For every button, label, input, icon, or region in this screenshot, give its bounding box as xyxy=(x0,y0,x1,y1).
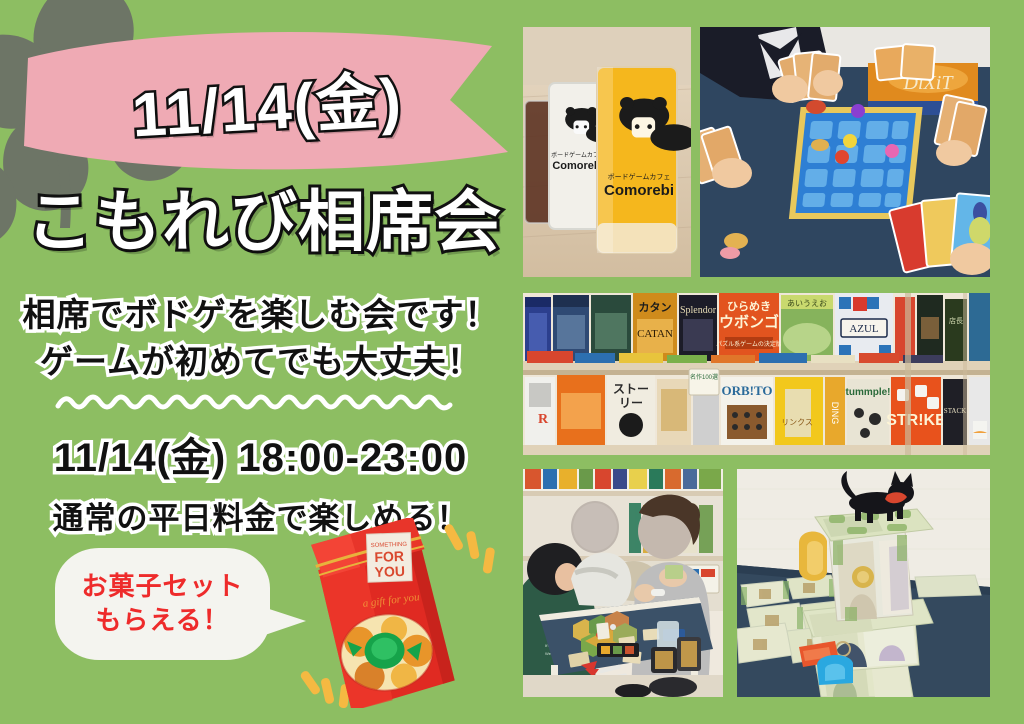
svg-text:リー: リー xyxy=(619,396,643,410)
candy-bag-image: SOMETHING FOR YOU a gift for you xyxy=(300,518,515,708)
svg-text:STACK: STACK xyxy=(944,407,966,415)
svg-text:ウボンゴ: ウボンゴ xyxy=(719,313,779,331)
speech-bubble: お菓子セット もらえる！ xyxy=(55,548,305,660)
svg-text:あいうえお: あいうえお xyxy=(787,299,827,308)
bubble-line-2: もらえる！ xyxy=(95,604,229,638)
svg-text:ストー: ストー xyxy=(613,382,649,396)
svg-text:ボードゲームカフェ: ボードゲームカフェ xyxy=(608,172,671,181)
svg-text:AZUL: AZUL xyxy=(849,323,879,335)
svg-text:STR!KE: STR!KE xyxy=(886,412,946,429)
page-title: こもれび相席会 xyxy=(14,168,514,265)
description-line-2: ゲームが初めてでも大丈夫！ xyxy=(8,339,513,386)
photo-dixit-game: DiXiT xyxy=(700,27,990,277)
description-line-1: 相席でボドゲを楽しむ会です！ xyxy=(8,292,513,339)
svg-text:CATAN: CATAN xyxy=(637,328,673,340)
svg-text:店長: 店長 xyxy=(949,316,963,325)
bubble-line-1: お菓子セット xyxy=(81,570,243,604)
photo-game-shelf: カタン CATAN Splendor ひらめき ウボンゴ パズル系ゲームの決定版… xyxy=(523,293,990,455)
svg-text:カタン: カタン xyxy=(639,301,672,314)
svg-text:YOU: YOU xyxy=(374,563,405,580)
schedule-datetime: 11/14(金) 18:00-23:00 xyxy=(8,425,513,483)
svg-text:Comorebi: Comorebi xyxy=(552,160,603,172)
svg-text:ORB!TO: ORB!TO xyxy=(721,383,772,398)
photo-card-tower xyxy=(737,469,990,697)
wavy-divider xyxy=(55,386,455,418)
svg-text:Splendor: Splendor xyxy=(680,305,717,316)
svg-text:R: R xyxy=(538,412,549,427)
svg-text:tummple!: tummple! xyxy=(846,387,891,398)
poster-canvas: 11/14(金) こもれび相席会 相席でボドゲを楽しむ会です！ ゲームが初めてで… xyxy=(0,0,1024,724)
svg-text:ひらめき: ひらめき xyxy=(727,300,771,313)
photo-drinks: ボードゲームカフェ Comorebi ボードゲームカフェ Comorebi xyxy=(523,27,691,277)
svg-text:DING: DING xyxy=(830,402,840,425)
date-banner: 11/14(金) xyxy=(22,22,512,182)
svg-text:名作100選: 名作100選 xyxy=(690,373,718,381)
svg-text:Comorebi: Comorebi xyxy=(604,182,674,199)
description-block: 相席でボドゲを楽しむ会です！ ゲームが初めてでも大丈夫！ xyxy=(8,292,513,386)
svg-text:リンクス: リンクス xyxy=(781,418,813,427)
photo-players: It's never boring We are here xyxy=(523,469,723,697)
svg-text:パズル系ゲームの決定版: パズル系ゲームの決定版 xyxy=(716,340,782,348)
speech-bubble-text: お菓子セット もらえる！ xyxy=(55,548,270,660)
